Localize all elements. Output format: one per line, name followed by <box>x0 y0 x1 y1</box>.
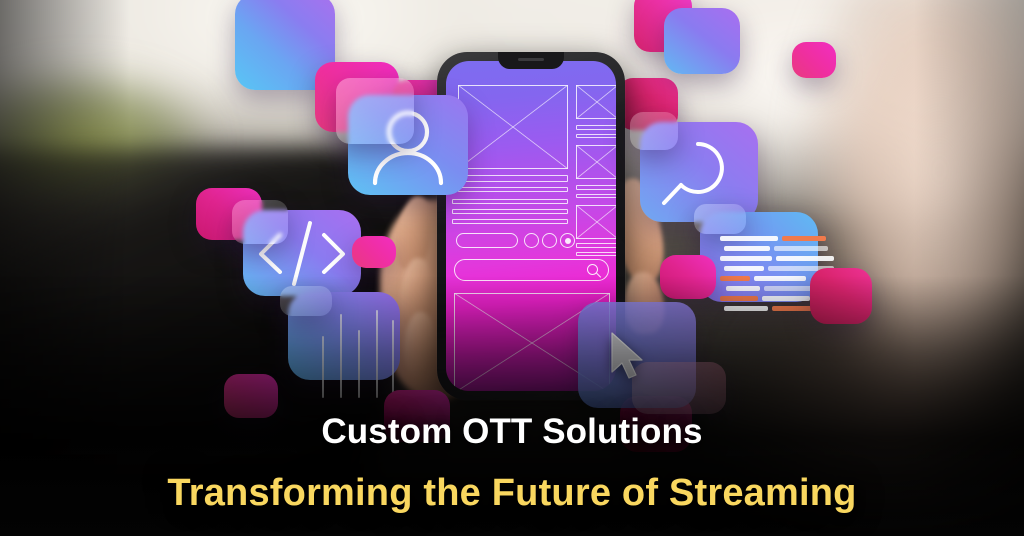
card-pink-pill-far-right <box>792 42 836 78</box>
card-pink-tab-right-of-code <box>352 236 396 268</box>
wireframe-textbar <box>452 199 568 204</box>
page-title: Custom OTT Solutions <box>0 413 1024 451</box>
card-code-glass-overlay <box>232 200 288 244</box>
wireframe-thumb-caption <box>576 252 616 256</box>
code-line <box>720 256 772 261</box>
card-user-glass-overlay <box>336 78 414 144</box>
card-code-lines-glass-overlay <box>694 204 746 234</box>
wireframe-thumb-caption <box>576 134 616 138</box>
wireframe-textbar <box>452 209 568 214</box>
wireframe-thumb <box>576 145 616 179</box>
card-violet-right-top <box>664 8 740 74</box>
page-subtitle: Transforming the Future of Streaming <box>0 473 1024 514</box>
code-line <box>776 256 834 261</box>
card-search-glass-overlay <box>630 112 678 150</box>
code-line <box>782 236 826 241</box>
wireframe-circle <box>542 233 557 248</box>
wireframe-textbar <box>452 219 568 224</box>
wireframe-thumb-caption <box>576 185 616 190</box>
wireframe-textbar <box>458 175 568 182</box>
search-icon <box>587 264 598 275</box>
code-line <box>724 246 770 251</box>
wireframe-progress-pill <box>456 233 518 248</box>
wireframe-thumb-caption <box>576 243 616 248</box>
wireframe-textbar <box>458 187 568 192</box>
code-line <box>774 246 828 251</box>
code-line <box>724 266 764 271</box>
wireframe-thumb <box>576 205 616 239</box>
wireframe-hero-image <box>458 85 568 169</box>
phone-notch <box>498 52 564 69</box>
wireframe-thumb-caption <box>576 194 616 198</box>
wireframe-thumb-caption <box>576 125 616 130</box>
banner-stage: Custom OTT Solutions Transforming the Fu… <box>0 0 1024 536</box>
caption-block: Custom OTT Solutions Transforming the Fu… <box>0 413 1024 514</box>
wireframe-play-dot <box>565 238 571 244</box>
code-line <box>720 236 778 241</box>
wireframe-thumb <box>576 85 616 119</box>
wireframe-circle <box>524 233 539 248</box>
